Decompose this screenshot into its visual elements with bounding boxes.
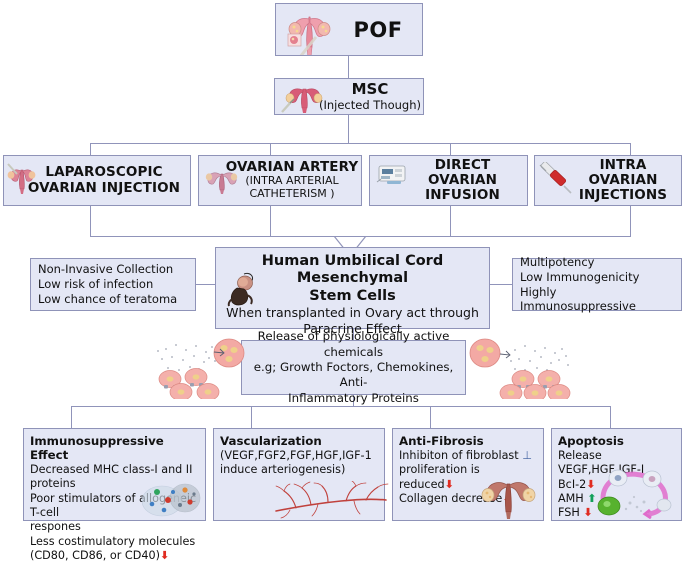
effect-box-anti-fibrosis: Anti-Fibrosis Inhibiton of fibroblast ⊥ … — [392, 428, 544, 521]
down-arrow-icon: ⬇ — [502, 492, 511, 505]
effect-line: (VEGF,FGF2,FGF,HGF,IGF-1 — [220, 449, 372, 463]
secreting-stem-cells-icon-right — [467, 337, 577, 399]
pof-label: POF — [353, 18, 402, 42]
core-title-line2: Stem Cells — [309, 288, 395, 305]
effect-heading-anti-fibrosis: Anti-Fibrosis — [399, 434, 537, 448]
msc-label: MSC — [319, 81, 421, 98]
route-label-ovarian-artery: OVARIAN ARTERY — [223, 160, 361, 175]
route-label-laparoscopic: LAPAROSCOPIC OVARIAN INJECTION — [18, 165, 190, 195]
effect-heading-apoptosis: Apoptosis — [558, 434, 675, 448]
effect-line-with-arrow: Collagen decrease⬇ — [399, 492, 537, 506]
release-line3: Inflammatory Proteins — [288, 391, 419, 406]
route-sublabel-ovarian-artery: (INTRA ARTERIAL CATHETERISM ) — [223, 175, 361, 200]
uterus-ovary-icon — [286, 7, 332, 55]
core-title-line1: Human Umbilical Cord Mesenchymal — [216, 253, 489, 288]
effect-line-with-arrow: (CD80, CD86, or CD40)⬇ — [30, 549, 199, 563]
effect-line-with-arrow: BcI-2⬇ — [558, 478, 675, 492]
right-features-box: Multipotency Low Immunogenicity Highly I… — [512, 258, 682, 311]
effect-line-text: AMH — [558, 492, 584, 505]
effect-line-text: Collagen decrease — [399, 492, 502, 505]
effect-heading-vascularization: Vascularization — [220, 434, 372, 448]
effect-text-immunosuppressive: Immunosuppressive Effect Decreased MHC c… — [30, 434, 199, 563]
connector-effect-drop-4 — [610, 406, 611, 428]
connector-pof-to-msc — [348, 56, 349, 78]
effect-line: Poor stimulators of allogeneic T-cell — [30, 492, 199, 521]
effect-line: respones — [30, 520, 199, 534]
route-text-ovarian-artery: OVARIAN ARTERY (INTRA ARTERIAL CATHETERI… — [223, 160, 361, 200]
right-features-text: Multipotency Low Immunogenicity Highly I… — [520, 255, 674, 314]
effect-line-text: (CD80, CD86, or CD40) — [30, 549, 160, 562]
msc-box: MSC (Injected Though) — [274, 78, 424, 115]
effect-box-apoptosis: Apoptosis Release VEGF,HGF,IGF-I BcI-2⬇ … — [551, 428, 682, 521]
effect-line-text: FSH — [558, 506, 580, 519]
effect-text-anti-fibrosis: Anti-Fibrosis Inhibiton of fibroblast ⊥ … — [399, 434, 537, 506]
connector-route-up-1 — [90, 206, 91, 237]
effect-line-text: proliferation is reduced — [399, 463, 480, 490]
perpendicular-icon: ⊥ — [522, 449, 532, 462]
connector-effect-drop-3 — [430, 406, 431, 428]
route-box-ovarian-artery: OVARIAN ARTERY (INTRA ARTERIAL CATHETERI… — [198, 155, 362, 206]
release-box: Release of physiologically active chemic… — [241, 340, 466, 395]
connector-msc-down — [348, 115, 349, 143]
connector-effects-bus — [71, 406, 610, 407]
effect-line: Decreased MHC class-I and II proteins — [30, 463, 199, 492]
left-features-text: Non-Invasive Collection Low risk of infe… — [38, 262, 177, 306]
right-feature-1: Multipotency — [520, 255, 674, 270]
up-arrow-icon: ⬆ — [587, 492, 596, 505]
left-feature-2: Low risk of infection — [38, 277, 177, 292]
pof-box: POF — [275, 3, 423, 56]
effect-text-vascularization: Vascularization (VEGF,FGF2,FGF,HGF,IGF-1… — [220, 434, 372, 478]
connector-right-features — [487, 284, 512, 285]
effect-line-with-arrow: proliferation is reduced⬇ — [399, 463, 537, 492]
right-feature-3: Highly Immunosuppressive — [520, 285, 674, 314]
connector-route-drop-2 — [270, 143, 271, 155]
effect-box-vascularization: Vascularization (VEGF,FGF2,FGF,HGF,IGF-1… — [213, 428, 385, 521]
msc-text-block: MSC (Injected Though) — [319, 81, 421, 112]
release-line2: e.g; Growth Foctors, Chemokines, Anti- — [242, 360, 465, 391]
down-arrow-icon: ⬇ — [160, 549, 169, 562]
effect-line-text: BcI-2 — [558, 478, 586, 491]
msc-sublabel: (Injected Though) — [319, 98, 421, 112]
route-label-intra-ovarian: INTRA OVARIAN INJECTIONS — [565, 158, 681, 203]
effect-line-with-arrow: Inhibiton of fibroblast ⊥ — [399, 449, 537, 463]
connector-route-up-3 — [450, 206, 451, 237]
core-hucmsc-box: Human Umbilical Cord Mesenchymal Stem Ce… — [215, 247, 490, 329]
route-box-direct-infusion: DIRECT OVARIAN INFUSION — [369, 155, 528, 206]
route-box-intra-ovarian: INTRA OVARIAN INJECTIONS — [534, 155, 682, 206]
effect-text-apoptosis: Apoptosis Release VEGF,HGF,IGF-I BcI-2⬇ … — [558, 434, 675, 521]
release-line1: Release of physiologically active chemic… — [242, 329, 465, 360]
route-label-direct-infusion: DIRECT OVARIAN INFUSION — [398, 158, 527, 203]
effect-line: induce arteriogenesis) — [220, 463, 372, 477]
connector-route-drop-4 — [630, 143, 631, 155]
effect-heading-immunosuppressive: Immunosuppressive Effect — [30, 434, 199, 462]
left-feature-1: Non-Invasive Collection — [38, 262, 177, 277]
connector-route-up-2 — [270, 206, 271, 237]
effect-line-text: Inhibiton of fibroblast — [399, 449, 519, 462]
connector-effect-drop-1 — [71, 406, 72, 428]
right-feature-2: Low Immunogenicity — [520, 270, 674, 285]
diagram-canvas: POF MSC (Injected Though) — [0, 0, 685, 525]
effect-box-immunosuppressive: Immunosuppressive Effect Decreased MHC c… — [23, 428, 206, 521]
left-features-box: Non-Invasive Collection Low risk of infe… — [30, 258, 196, 311]
down-arrow-icon: ⬇ — [586, 478, 595, 491]
route-box-laparoscopic: LAPAROSCOPIC OVARIAN INJECTION — [3, 155, 191, 206]
connector-routes-bus — [90, 143, 631, 144]
left-feature-3: Low chance of teratoma — [38, 292, 177, 307]
connector-effect-drop-2 — [251, 406, 252, 428]
blood-vessel-branching-icon — [266, 481, 391, 519]
effect-line: Release VEGF,HGF,IGF-I — [558, 449, 675, 478]
effect-line-with-arrow: AMH ⬆ — [558, 492, 675, 506]
effect-line: Less costimulatory molecules — [30, 535, 199, 549]
core-sub-line1: When transplanted in Ovary act through — [226, 305, 479, 321]
down-arrow-icon: ⬇ — [445, 478, 454, 491]
connector-route-up-4 — [630, 206, 631, 237]
connector-route-drop-3 — [450, 143, 451, 155]
secreting-stem-cells-icon-left — [152, 337, 247, 399]
down-arrow-icon: ⬇ — [583, 506, 592, 519]
connector-route-drop-1 — [90, 143, 91, 155]
effect-line-with-arrow: FSH ⬇ — [558, 506, 675, 520]
